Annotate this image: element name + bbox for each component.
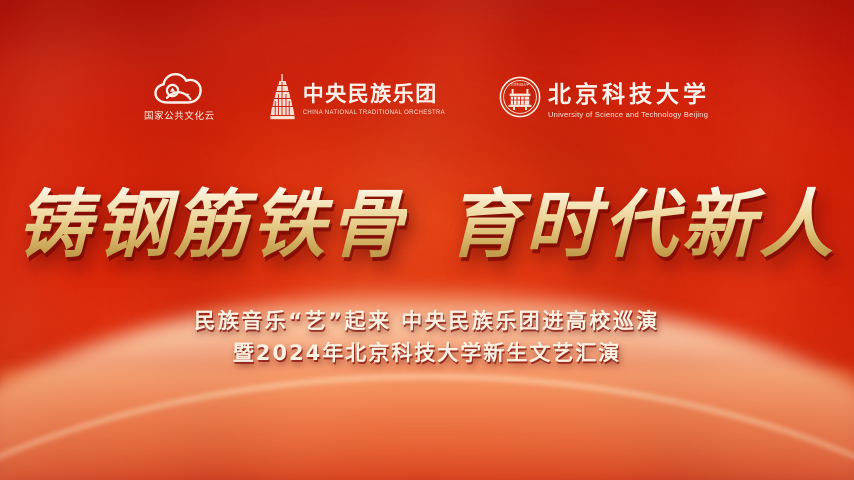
seal-icon: 北京科技大学 [499, 76, 541, 118]
main-title: 铸钢筋铁骨 育时代新人 [0, 186, 854, 266]
poster-content: 国家公共文化云 [0, 0, 854, 480]
logo-text-ustb: 北京科技大学 University of Science and Technol… [548, 75, 710, 119]
main-title-part-1: 铸钢筋铁骨 [17, 186, 407, 266]
pagoda-icon [269, 74, 296, 120]
logo-ustb: 北京科技大学 北京科技大学 University of Science and … [499, 75, 710, 119]
orchestra-name-cn: 中央民族乐团 [303, 78, 445, 108]
ustb-name-cn: 北京科技大学 [548, 75, 710, 109]
subtitle-block: 民族音乐“艺”起来 中央民族乐团进高校巡演 暨2024年北京科技大学新生文艺汇演 [0, 306, 854, 370]
logo-national-public-culture-cloud: 国家公共文化云 [144, 72, 215, 122]
poster-canvas: 国家公共文化云 [0, 0, 854, 480]
subtitle-line-1: 民族音乐“艺”起来 中央民族乐团进高校巡演 [0, 306, 854, 338]
sponsor-logo-row: 国家公共文化云 [0, 62, 854, 132]
logo-caption-culture-cloud: 国家公共文化云 [144, 108, 215, 122]
orchestra-name-en: CHINA NATIONAL TRADITIONAL ORCHESTRA [303, 110, 445, 116]
cloud-icon [153, 72, 205, 105]
logo-text-orchestra: 中央民族乐团 CHINA NATIONAL TRADITIONAL ORCHES… [303, 78, 445, 116]
subtitle-line-2: 暨2024年北京科技大学新生文艺汇演 [0, 338, 854, 370]
svg-text:北京科技大学: 北京科技大学 [511, 82, 530, 87]
logo-china-national-traditional-orchestra: 中央民族乐团 CHINA NATIONAL TRADITIONAL ORCHES… [269, 74, 445, 120]
ustb-name-en: University of Science and Technology Bei… [548, 110, 710, 119]
main-title-part-2: 育时代新人 [447, 186, 837, 266]
